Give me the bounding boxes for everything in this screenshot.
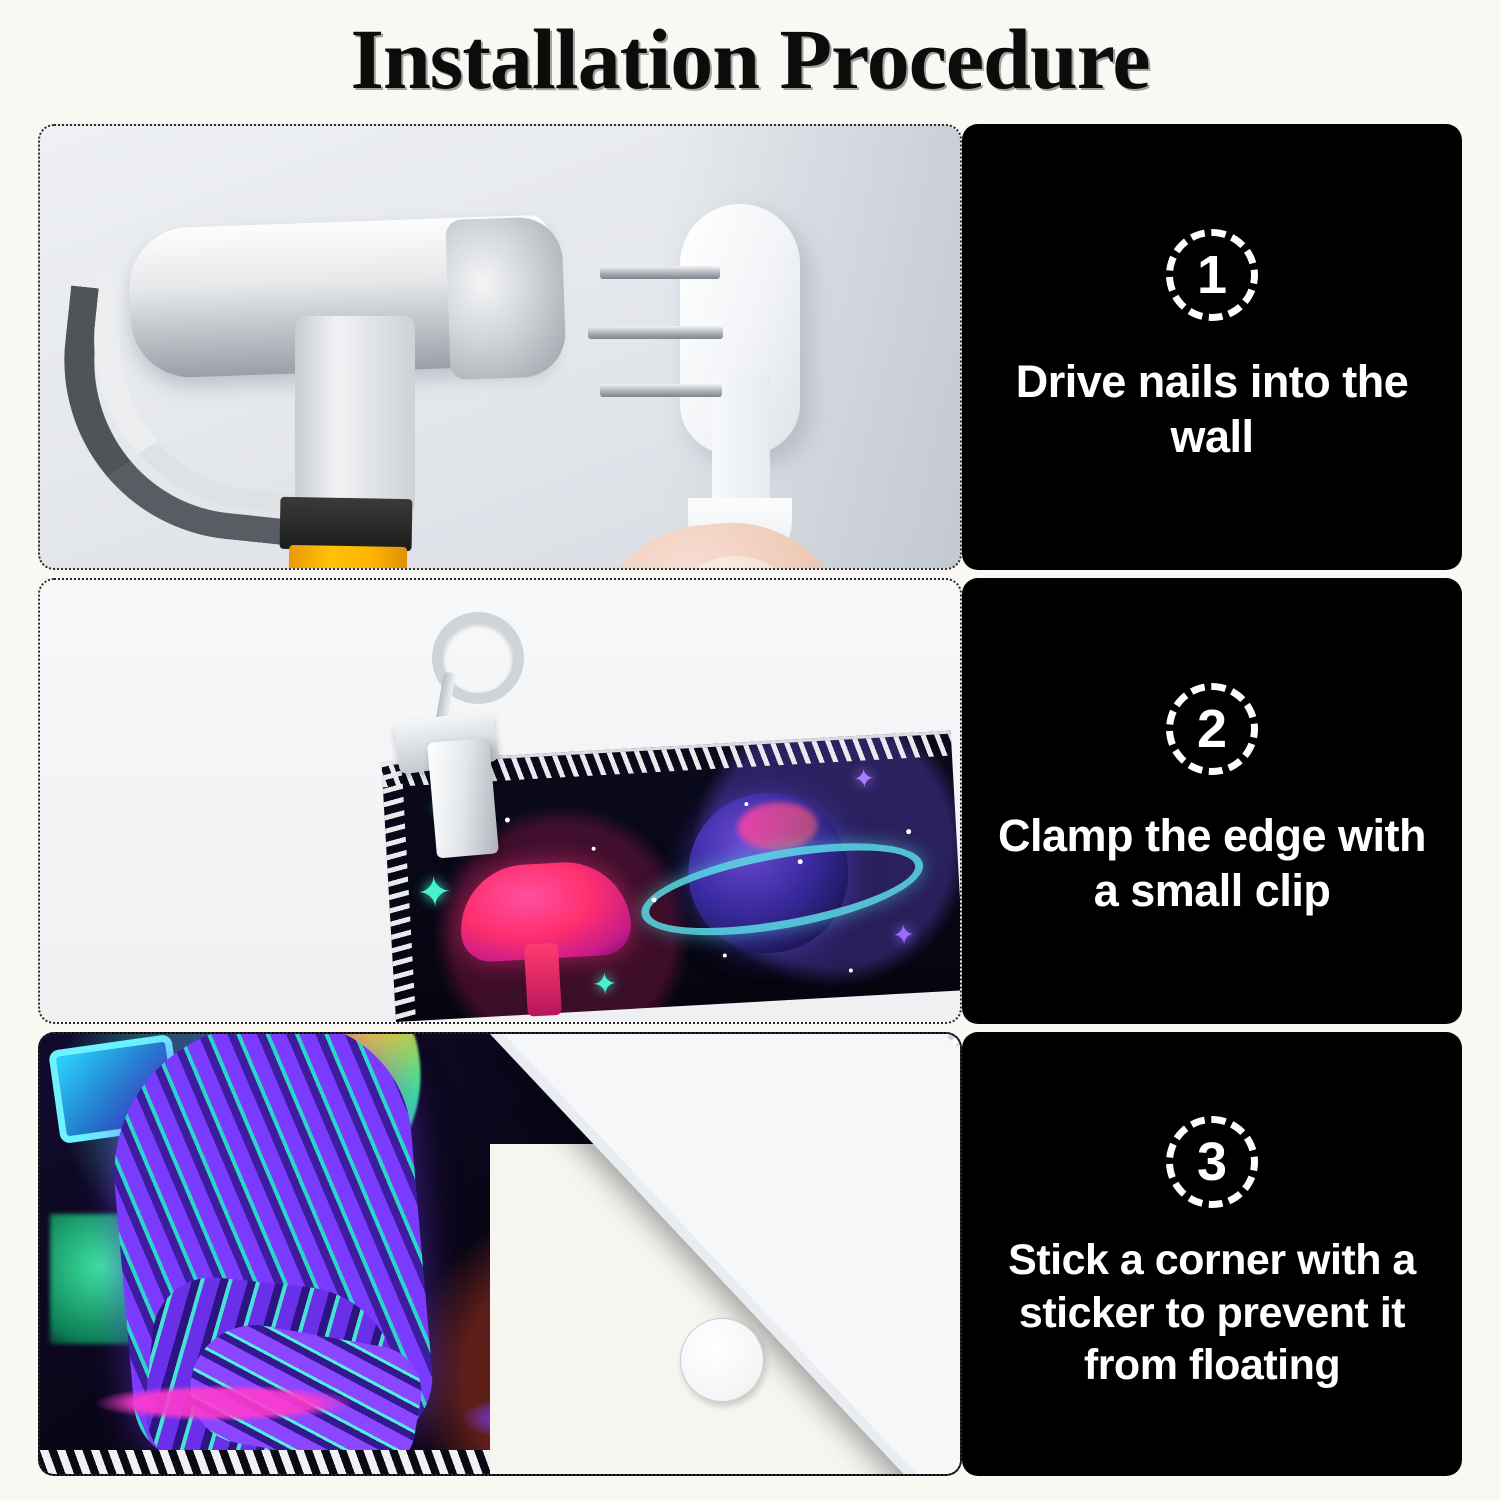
adhesive-sticker-icon (680, 1318, 764, 1402)
star-sparkle-icon: ✦ (852, 765, 875, 792)
star-sparkle-icon: ✦ (416, 871, 453, 915)
step-caption: Clamp the edge with a small clip (962, 809, 1462, 919)
star-dot-icon (592, 847, 596, 851)
folded-corner-backing-icon (504, 1034, 960, 1476)
dashed-circle-number-icon: 3 (1166, 1116, 1258, 1208)
step-row-3: 3 Stick a corner with a sticker to preve… (38, 1032, 1462, 1476)
hammer-ferrule-icon (280, 497, 413, 551)
nail-icon (600, 384, 722, 397)
hammer-face-icon (445, 216, 567, 380)
clip-on-tapestry-photo: ✦ ✦ ✦ ✦ ✦ (38, 578, 962, 1024)
step-panel-2: 2 Clamp the edge with a small clip (962, 578, 1462, 1024)
tapestry-side-hem-icon (381, 761, 415, 1022)
dashed-circle-number-icon: 1 (1166, 229, 1258, 321)
star-sparkle-icon: ✦ (591, 970, 618, 1001)
step-panel-3: 3 Stick a corner with a sticker to preve… (962, 1032, 1462, 1476)
star-dot-icon (849, 968, 853, 972)
page-title: Installation Procedure (0, 14, 1500, 104)
star-sparkle-icon: ✦ (891, 921, 916, 950)
installation-procedure-infographic: Installation Procedure 1 Drive nails int… (0, 0, 1500, 1500)
neon-mushroom-stem-icon (524, 943, 562, 1017)
clip-plate-icon (427, 738, 499, 859)
nail-icon (600, 266, 720, 279)
step-caption: Stick a corner with a sticker to prevent… (962, 1234, 1462, 1391)
step-row-1: 1 Drive nails into the wall (38, 124, 1462, 570)
step-panel-1: 1 Drive nails into the wall (962, 124, 1462, 570)
hammer-handle-icon (287, 545, 407, 570)
hammer-and-wall-hook-photo (38, 124, 962, 570)
step-row-2: ✦ ✦ ✦ ✦ ✦ 2 Clamp the edge with a smal (38, 578, 1462, 1024)
dashed-circle-number-icon: 2 (1166, 683, 1258, 775)
step-caption: Drive nails into the wall (962, 355, 1462, 465)
star-dot-icon (505, 817, 510, 822)
star-dot-icon (723, 953, 727, 957)
nail-icon (588, 326, 723, 339)
tapestry-corner-with-sticker-photo (38, 1032, 962, 1476)
hammer-neck-icon (295, 316, 415, 516)
star-dot-icon (906, 829, 911, 834)
